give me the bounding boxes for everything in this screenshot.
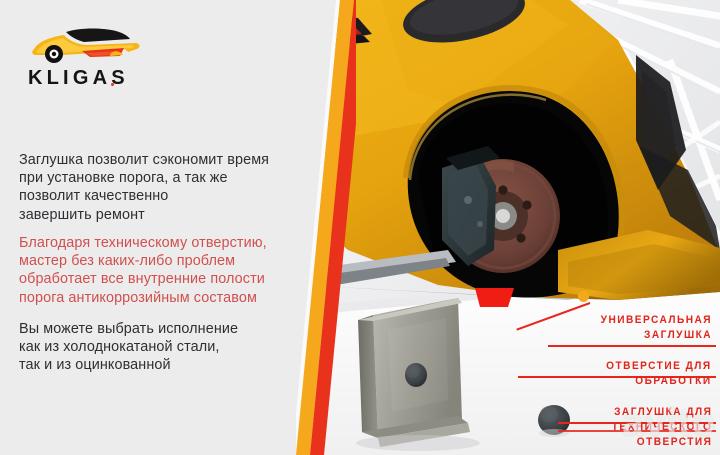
sports-car-icon bbox=[24, 26, 142, 66]
product-photo bbox=[318, 0, 720, 455]
logo-accent-dot bbox=[111, 83, 114, 86]
benefit-text-anticorrosion: Благодаря техническому отверстию, мастер… bbox=[19, 234, 319, 307]
standalone-plug bbox=[538, 405, 570, 437]
benefit-block-time: Заглушка позволит сэкономит время при ус… bbox=[19, 151, 319, 224]
benefit-text-material: Вы можете выбрать исполнение как из холо… bbox=[19, 320, 319, 375]
poster-canvas: KLIGAS Заглушка позволит сэкономит время… bbox=[0, 0, 720, 455]
metal-plate bbox=[358, 298, 470, 447]
benefit-text-time: Заглушка позволит сэкономит время при ус… bbox=[19, 151, 319, 224]
benefit-block-anticorrosion: Благодаря техническому отверстию, мастер… bbox=[19, 234, 319, 307]
benefit-block-material: Вы можете выбрать исполнение как из холо… bbox=[19, 320, 319, 375]
brand-logo: KLIGAS bbox=[18, 26, 168, 96]
car-photo-illustration bbox=[318, 0, 720, 455]
